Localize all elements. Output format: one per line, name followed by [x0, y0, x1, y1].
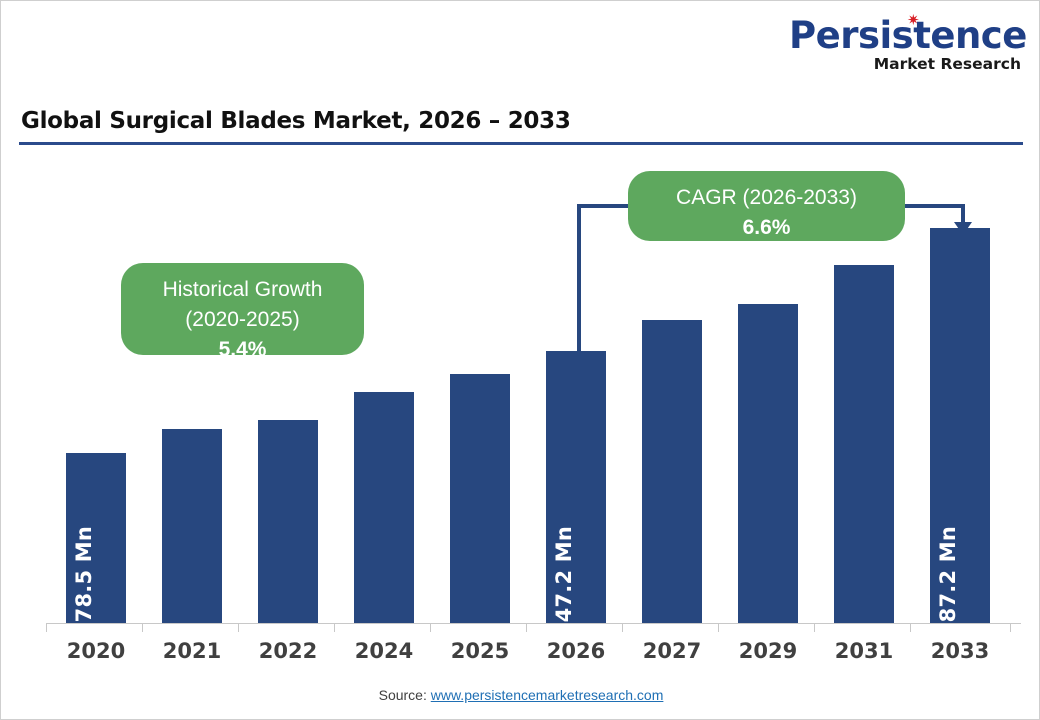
category-label-2020: 2020 — [48, 639, 144, 663]
bar-2033: US$ 387.2 Mn — [930, 228, 990, 623]
category-label-2022: 2022 — [240, 639, 336, 663]
bar-value-label-2020: US$ 178.5 Mn — [72, 526, 96, 623]
historical-growth-line2: (2020-2025) — [135, 305, 350, 335]
x-axis-tick-6 — [622, 623, 623, 632]
bar-2026: US$ 247.2 Mn — [546, 351, 606, 623]
category-label-2021: 2021 — [144, 639, 240, 663]
x-axis-tick-3 — [334, 623, 335, 632]
category-label-2031: 2031 — [816, 639, 912, 663]
cagr-value: 6.6% — [743, 216, 791, 239]
cagr-callout: CAGR (2026-2033) 6.6% — [628, 171, 905, 241]
category-label-2024: 2024 — [336, 639, 432, 663]
cagr-connector-right-horizontal — [901, 204, 965, 208]
x-axis-tick-5 — [526, 623, 527, 632]
x-axis-tick-8 — [814, 623, 815, 632]
x-axis-tick-0 — [46, 623, 47, 632]
x-axis-tick-7 — [718, 623, 719, 632]
category-label-2027: 2027 — [624, 639, 720, 663]
cagr-line1: CAGR (2026-2033) — [642, 183, 891, 213]
cagr-connector-left-vertical — [577, 204, 581, 354]
bar-value-label-2026: US$ 247.2 Mn — [552, 526, 576, 623]
bar-2029 — [738, 304, 798, 623]
bar-2022 — [258, 420, 318, 623]
bar-2025 — [450, 374, 510, 623]
category-label-2029: 2029 — [720, 639, 816, 663]
chart-page: Persistence ✷ Market Research Global Sur… — [0, 0, 1040, 720]
x-axis-line — [46, 623, 1021, 624]
bar-2024 — [354, 392, 414, 623]
bar-2020: US$ 178.5 Mn — [66, 453, 126, 623]
source-prefix: Source: — [379, 687, 431, 703]
historical-growth-line1: Historical Growth — [135, 275, 350, 305]
historical-growth-value: 5.4% — [219, 338, 267, 361]
category-label-2025: 2025 — [432, 639, 528, 663]
x-axis-tick-1 — [142, 623, 143, 632]
x-axis-tick-4 — [430, 623, 431, 632]
historical-growth-callout: Historical Growth (2020-2025) 5.4% — [121, 263, 364, 355]
bar-2031 — [834, 265, 894, 623]
category-label-2026: 2026 — [528, 639, 624, 663]
x-axis-tick-end — [1010, 623, 1011, 632]
source-note: Source: www.persistencemarketresearch.co… — [1, 687, 1040, 703]
category-label-2033: 2033 — [912, 639, 1008, 663]
x-axis-tick-9 — [910, 623, 911, 632]
x-axis-tick-2 — [238, 623, 239, 632]
bar-2027 — [642, 320, 702, 623]
cagr-connector-left-horizontal — [577, 204, 633, 208]
bar-value-label-2033: US$ 387.2 Mn — [936, 526, 960, 623]
source-link[interactable]: www.persistencemarketresearch.com — [431, 687, 664, 703]
bar-2021 — [162, 429, 222, 623]
